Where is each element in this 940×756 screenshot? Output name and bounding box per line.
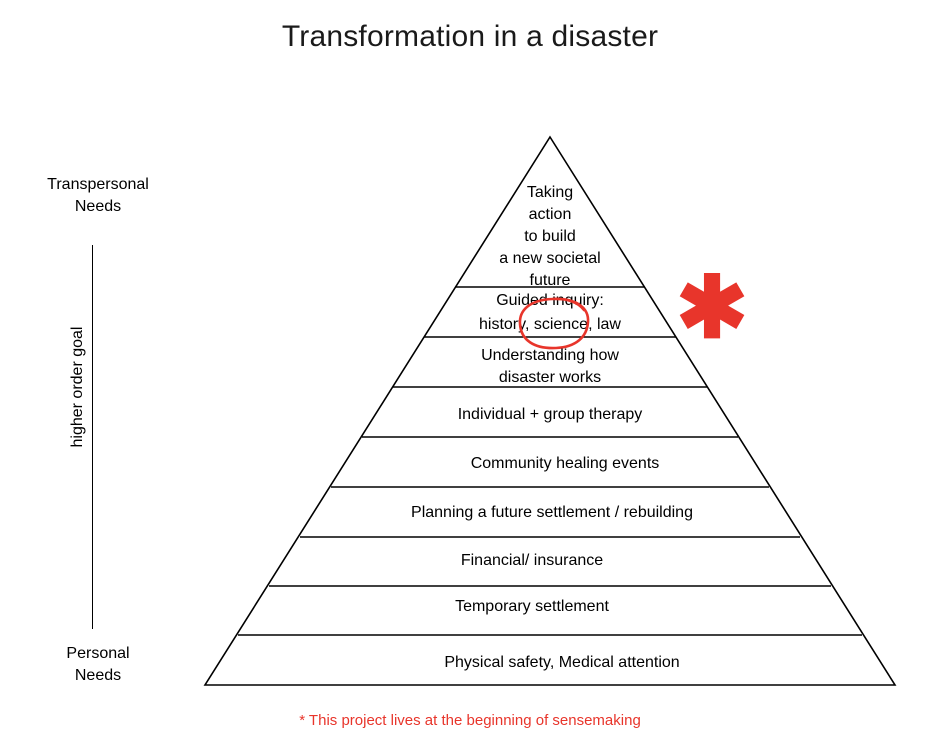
tier-1-line-5: future — [530, 272, 571, 289]
tier-8-line-1: Temporary settlement — [455, 598, 609, 615]
tier-1-line-4: a new societal — [499, 250, 600, 267]
tier-1-line-2: action — [529, 206, 572, 223]
tier-4-line-1: Individual + group therapy — [458, 406, 643, 423]
tier-1-line-1: Taking — [527, 184, 573, 201]
tier-7-line-1: Financial/ insurance — [461, 552, 603, 569]
tier-5-line-1: Community healing events — [471, 455, 660, 472]
tier-1-line-3: to build — [524, 228, 576, 245]
tier-9-physical-safety: Physical safety, Medical attention — [444, 654, 679, 671]
tier-4-therapy: Individual + group therapy — [458, 406, 643, 423]
tier-2-line-2: history, science, law — [479, 316, 621, 333]
tier-8-temporary-settlement: Temporary settlement — [455, 598, 609, 615]
tier-2-line-1: Guided inquiry: — [496, 292, 604, 309]
tier-3-line-1: Understanding how — [481, 347, 619, 364]
tier-3-line-2: disaster works — [499, 369, 601, 386]
tier-6-planning: Planning a future settlement / rebuildin… — [411, 504, 693, 521]
tier-5-community-healing: Community healing events — [471, 455, 660, 472]
tier-7-financial: Financial/ insurance — [461, 552, 603, 569]
maslow-pyramid-diagram: Taking action to build a new societal fu… — [0, 0, 940, 756]
footnote-text: * This project lives at the beginning of… — [0, 712, 940, 729]
tier-9-line-1: Physical safety, Medical attention — [444, 654, 679, 671]
tier-6-line-1: Planning a future settlement / rebuildin… — [411, 504, 693, 521]
asterisk-marker-icon: ✱ — [676, 271, 746, 345]
